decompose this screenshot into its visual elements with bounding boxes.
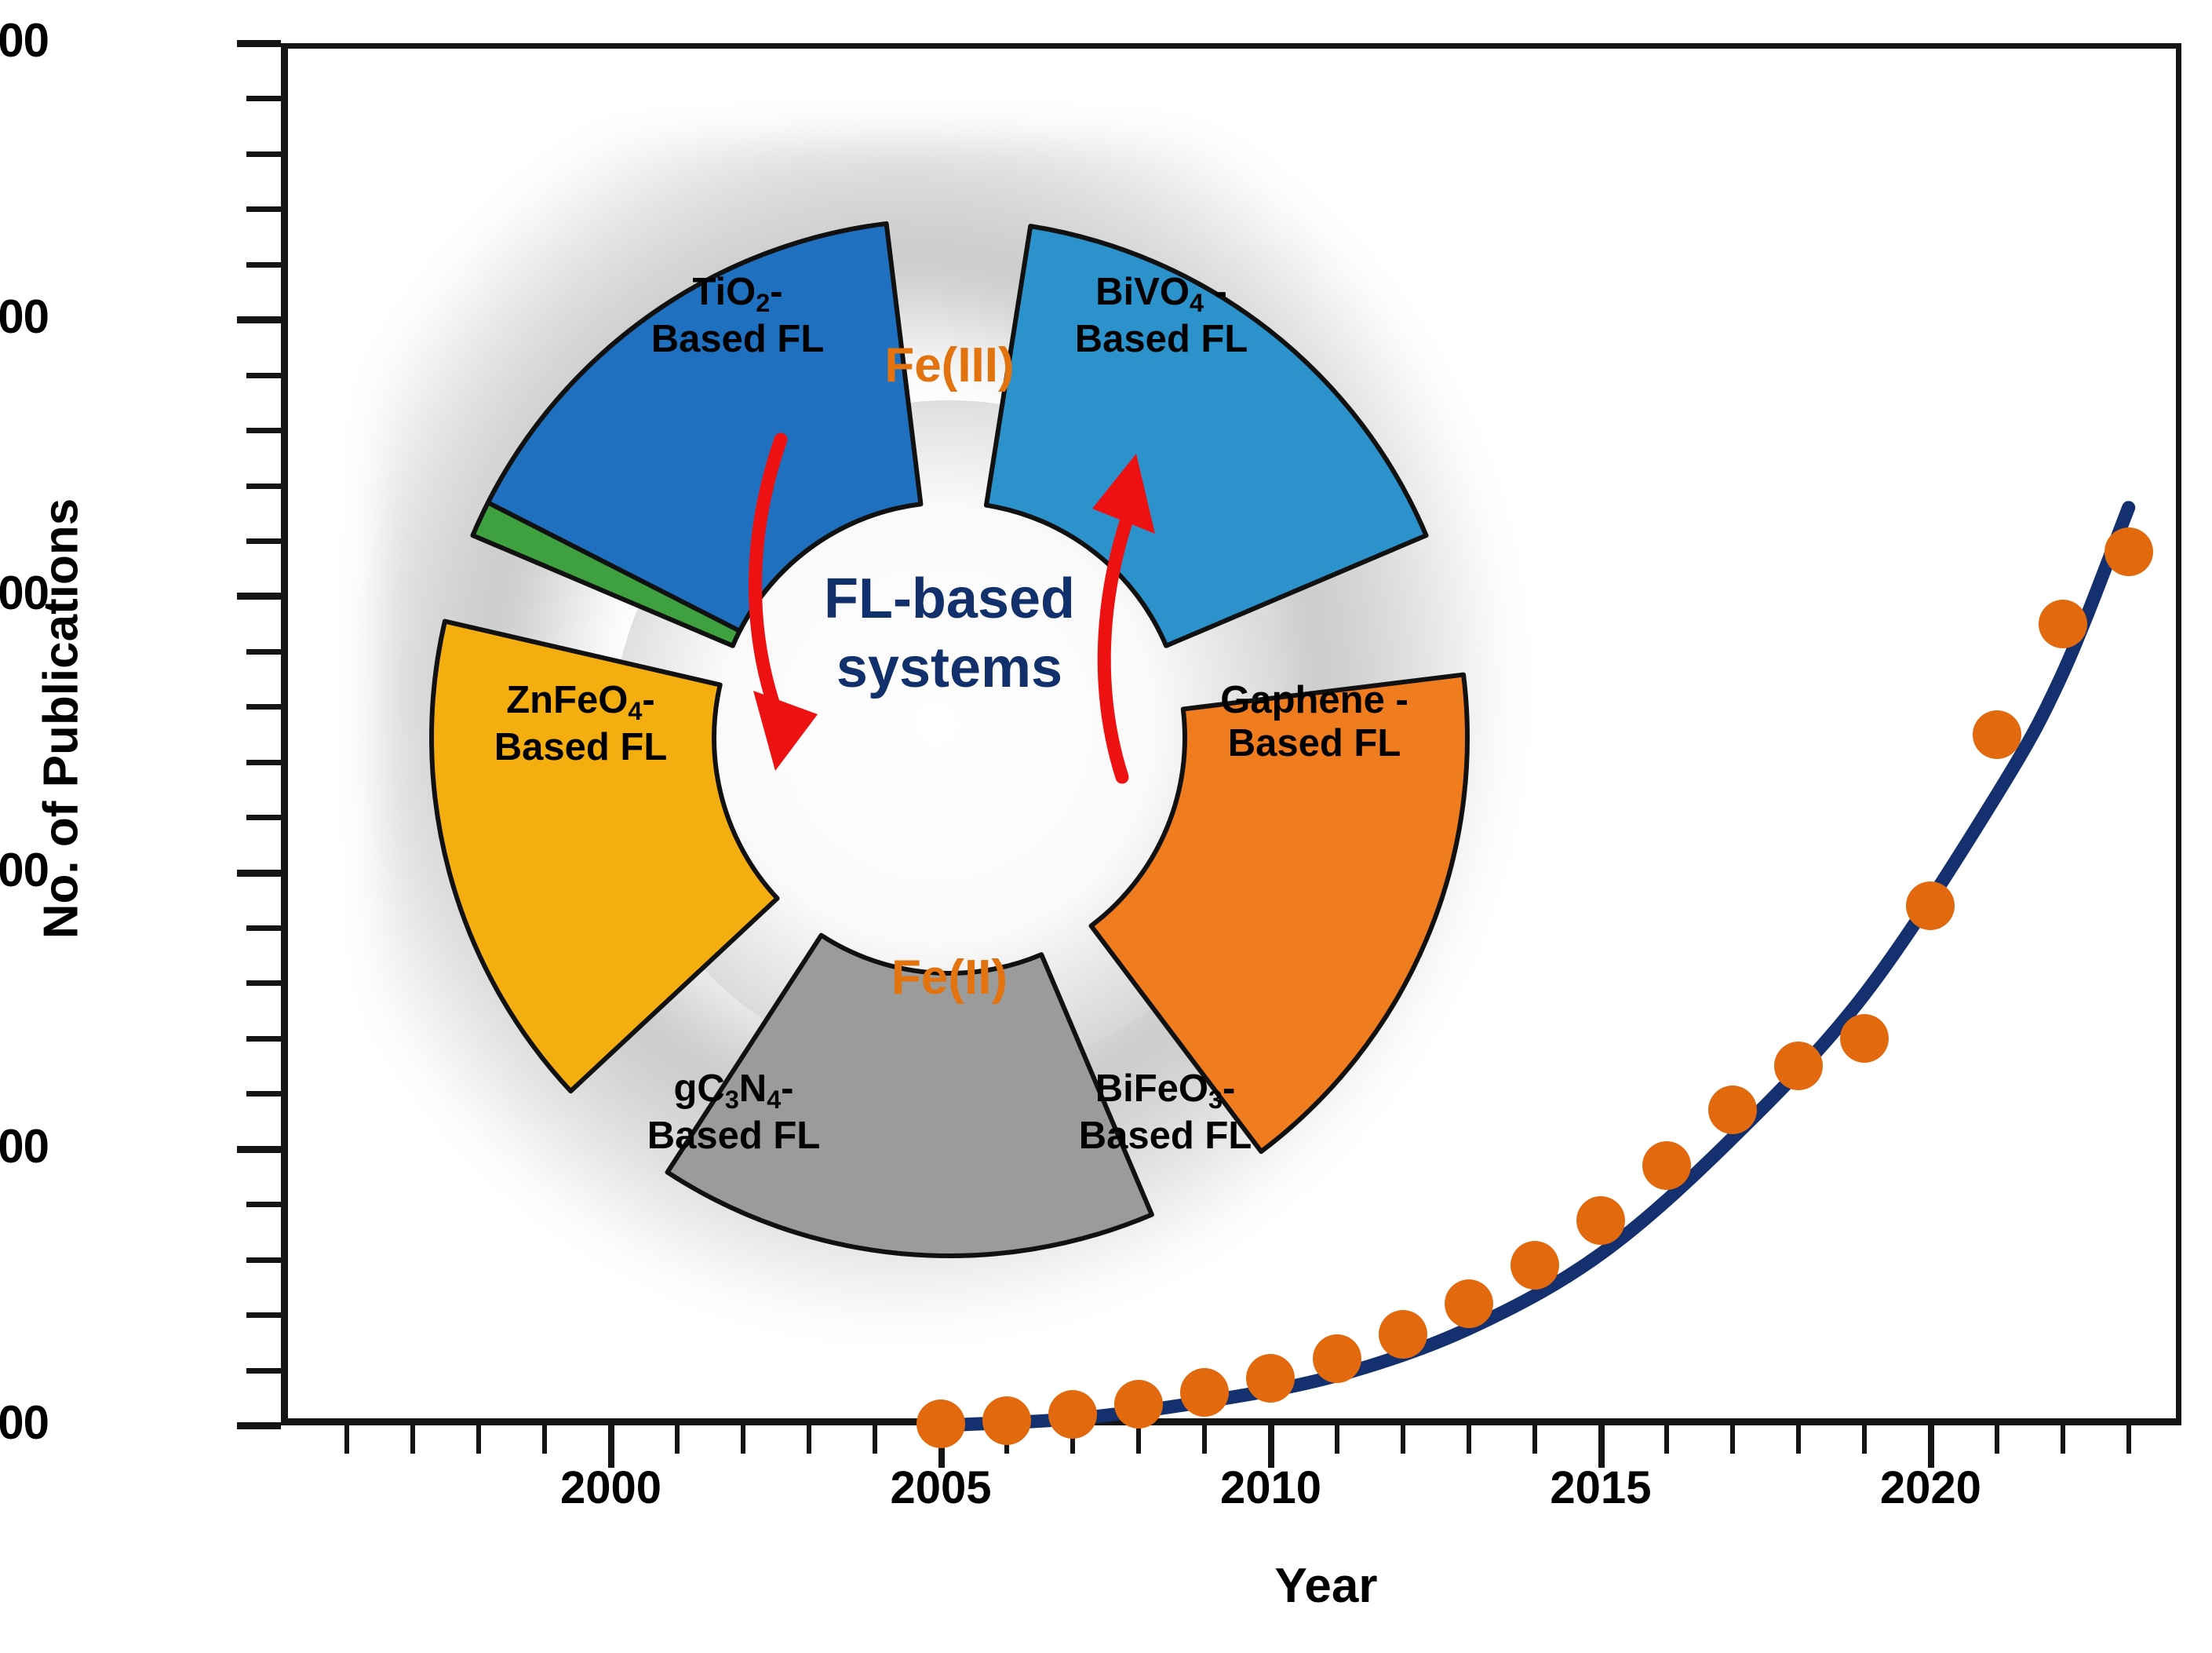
x-axis-minor-tick xyxy=(1532,1424,1537,1454)
y-axis-tick-label: 400 xyxy=(0,1396,49,1450)
x-axis-minor-tick xyxy=(1136,1424,1141,1454)
y-axis-minor-tick xyxy=(246,815,281,820)
x-axis-minor-tick xyxy=(1995,1424,1999,1454)
y-axis-major-tick xyxy=(237,870,281,877)
y-axis-minor-tick xyxy=(246,151,281,157)
x-axis-minor-tick xyxy=(1401,1424,1405,1454)
y-axis-major-tick xyxy=(237,1422,281,1429)
x-axis-minor-tick xyxy=(1862,1424,1867,1454)
y-axis-minor-tick xyxy=(246,96,281,101)
x-axis-minor-tick xyxy=(1004,1424,1009,1454)
x-axis-minor-tick xyxy=(344,1424,349,1454)
x-axis-minor-tick xyxy=(2126,1424,2131,1454)
y-axis-minor-tick xyxy=(246,1257,281,1263)
x-axis-minor-tick xyxy=(542,1424,547,1454)
y-axis-minor-tick xyxy=(246,1368,281,1374)
segment-shapes xyxy=(337,94,1562,1381)
x-axis-minor-tick xyxy=(1335,1424,1339,1454)
y-axis-minor-tick xyxy=(246,925,281,931)
x-axis-minor-tick xyxy=(1070,1424,1075,1454)
x-axis-minor-tick xyxy=(741,1424,745,1454)
y-axis-tick-label: 10400 xyxy=(0,843,49,897)
y-axis-minor-tick xyxy=(246,206,281,212)
y-axis-minor-tick xyxy=(246,373,281,378)
x-axis-tick-label: 2015 xyxy=(1550,1461,1651,1514)
x-axis-tick-label: 2005 xyxy=(890,1461,991,1514)
x-axis-minor-tick xyxy=(1796,1424,1801,1454)
y-axis-minor-tick xyxy=(246,428,281,433)
y-axis-minor-tick xyxy=(246,980,281,986)
y-axis-tick-label: 5400 xyxy=(0,1119,49,1173)
y-axis-minor-tick xyxy=(246,483,281,489)
y-axis-minor-tick xyxy=(246,538,281,544)
y-axis-minor-tick xyxy=(246,262,281,268)
x-axis-minor-tick xyxy=(476,1424,481,1454)
x-axis-minor-tick xyxy=(873,1424,877,1454)
y-axis-tick-label: 25400 xyxy=(0,13,49,68)
fl-systems-diagram: TiO2-Based FL BiVO4 -Based FL Gaphene -B… xyxy=(337,94,1562,1381)
x-axis-minor-tick xyxy=(2061,1424,2065,1454)
y-axis-major-tick xyxy=(237,40,281,47)
y-axis-major-tick xyxy=(237,593,281,600)
y-axis-minor-tick xyxy=(246,1091,281,1097)
y-axis-minor-tick xyxy=(246,649,281,655)
y-axis-major-tick xyxy=(237,1146,281,1153)
x-axis-title: Year xyxy=(1224,1558,1428,1614)
y-axis-tick-label: 15400 xyxy=(0,566,49,620)
x-axis-minor-tick xyxy=(675,1424,680,1454)
y-axis-tick-label: 20400 xyxy=(0,290,49,344)
x-axis-minor-tick xyxy=(1202,1424,1207,1454)
figure-canvas: No. of Publications Year 400540010400154… xyxy=(0,0,2212,1653)
x-axis-minor-tick xyxy=(1467,1424,1471,1454)
x-axis-minor-tick xyxy=(1730,1424,1735,1454)
y-axis-major-tick xyxy=(237,316,281,323)
x-axis-tick-label: 2000 xyxy=(560,1461,661,1514)
y-axis-minor-tick xyxy=(246,1202,281,1207)
y-axis-minor-tick xyxy=(246,760,281,765)
y-axis-minor-tick xyxy=(246,704,281,710)
y-axis-minor-tick xyxy=(246,1312,281,1318)
x-axis-minor-tick xyxy=(807,1424,811,1454)
x-axis-tick-label: 2020 xyxy=(1880,1461,1981,1514)
x-axis-minor-tick xyxy=(410,1424,415,1454)
x-axis-tick-label: 2010 xyxy=(1220,1461,1321,1514)
x-axis-minor-tick xyxy=(1664,1424,1669,1454)
y-axis-minor-tick xyxy=(246,1036,281,1042)
